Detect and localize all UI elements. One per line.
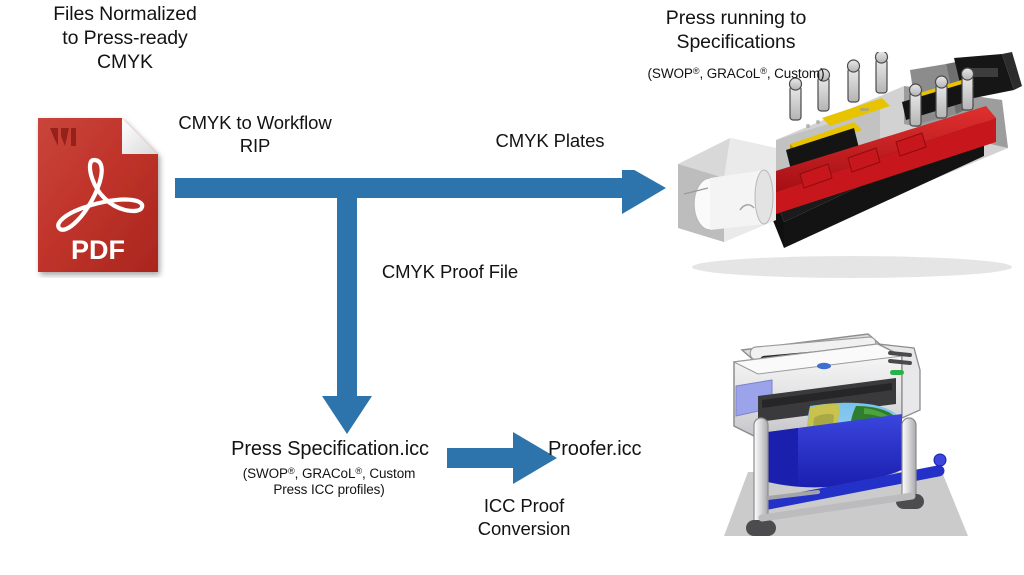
label-proofer-icc: Proofer.icc [548,437,748,461]
heading-press-running-subtitle: (SWOP®, GRACoL®, Custom) [588,66,884,82]
label-cmyk-to-workflow-rip: CMYK to Workflow RIP [145,112,365,157]
label-press-specification-subtitle: (SWOP®, GRACoL®, CustomPress ICC profile… [186,466,472,499]
label-cmyk-proof-file: CMYK Proof File [350,261,550,284]
heading-files-normalized: Files Normalized to Press-ready CMYK [0,3,250,74]
large-format-proofer-icon [706,322,1006,570]
pdf-badge-label: PDF [71,235,125,265]
diagram-canvas: PDF [0,0,1024,575]
offset-printing-press-icon [672,52,1024,284]
heading-press-running: Press running to Specifications [588,7,884,55]
label-cmyk-plates: CMYK Plates [460,130,640,153]
label-icc-proof-conversion: ICC Proof Conversion [440,495,608,540]
branching-arrow-icon [170,170,670,438]
label-press-specification-icc: Press Specification.icc [196,437,464,461]
